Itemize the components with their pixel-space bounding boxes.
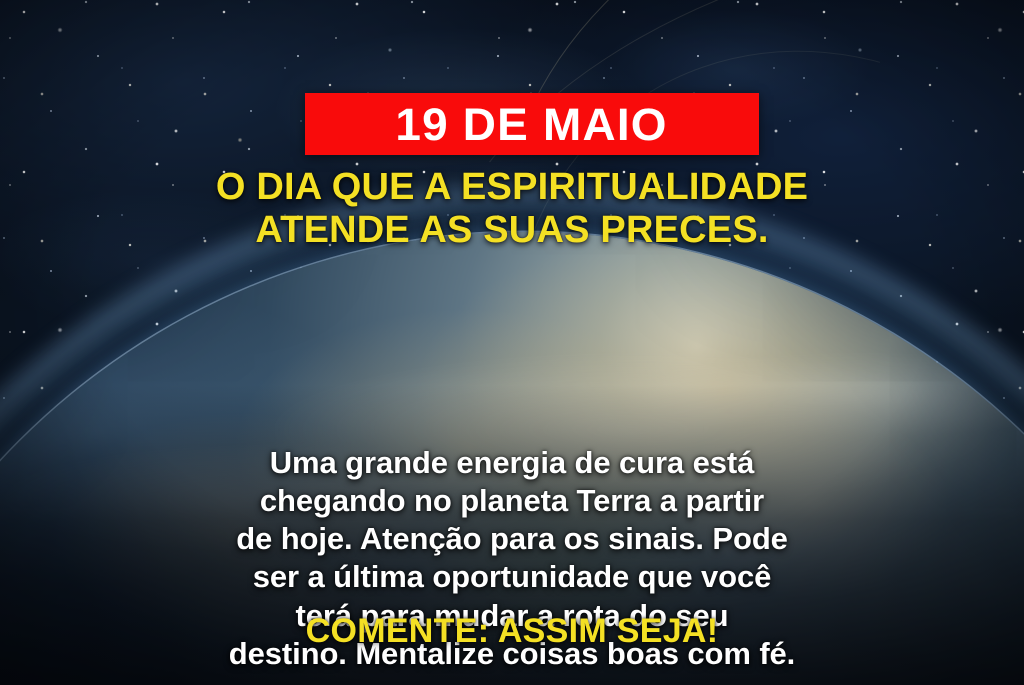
call-to-action: COMENTE: ASSIM SEJA!	[0, 612, 1024, 651]
call-to-action-label: COMENTE: ASSIM SEJA!	[306, 612, 719, 650]
date-banner: 19 DE MAIO	[305, 93, 759, 155]
headline-line-2: ATENDE AS SUAS PRECES.	[0, 209, 1024, 252]
date-banner-label: 19 DE MAIO	[396, 102, 668, 147]
body-line: chegando no planeta Terra a partir	[48, 482, 976, 520]
body-line: de hoje. Atenção para os sinais. Pode	[48, 520, 976, 558]
body-line: Uma grande energia de cura está	[48, 444, 976, 482]
poster-image: 19 DE MAIO O DIA QUE A ESPIRITUALIDADE A…	[0, 0, 1024, 685]
headline: O DIA QUE A ESPIRITUALIDADE ATENDE AS SU…	[0, 166, 1024, 252]
headline-line-1: O DIA QUE A ESPIRITUALIDADE	[216, 166, 808, 208]
poster-content: 19 DE MAIO O DIA QUE A ESPIRITUALIDADE A…	[0, 0, 1024, 685]
body-line: ser a última oportunidade que você	[48, 558, 976, 596]
